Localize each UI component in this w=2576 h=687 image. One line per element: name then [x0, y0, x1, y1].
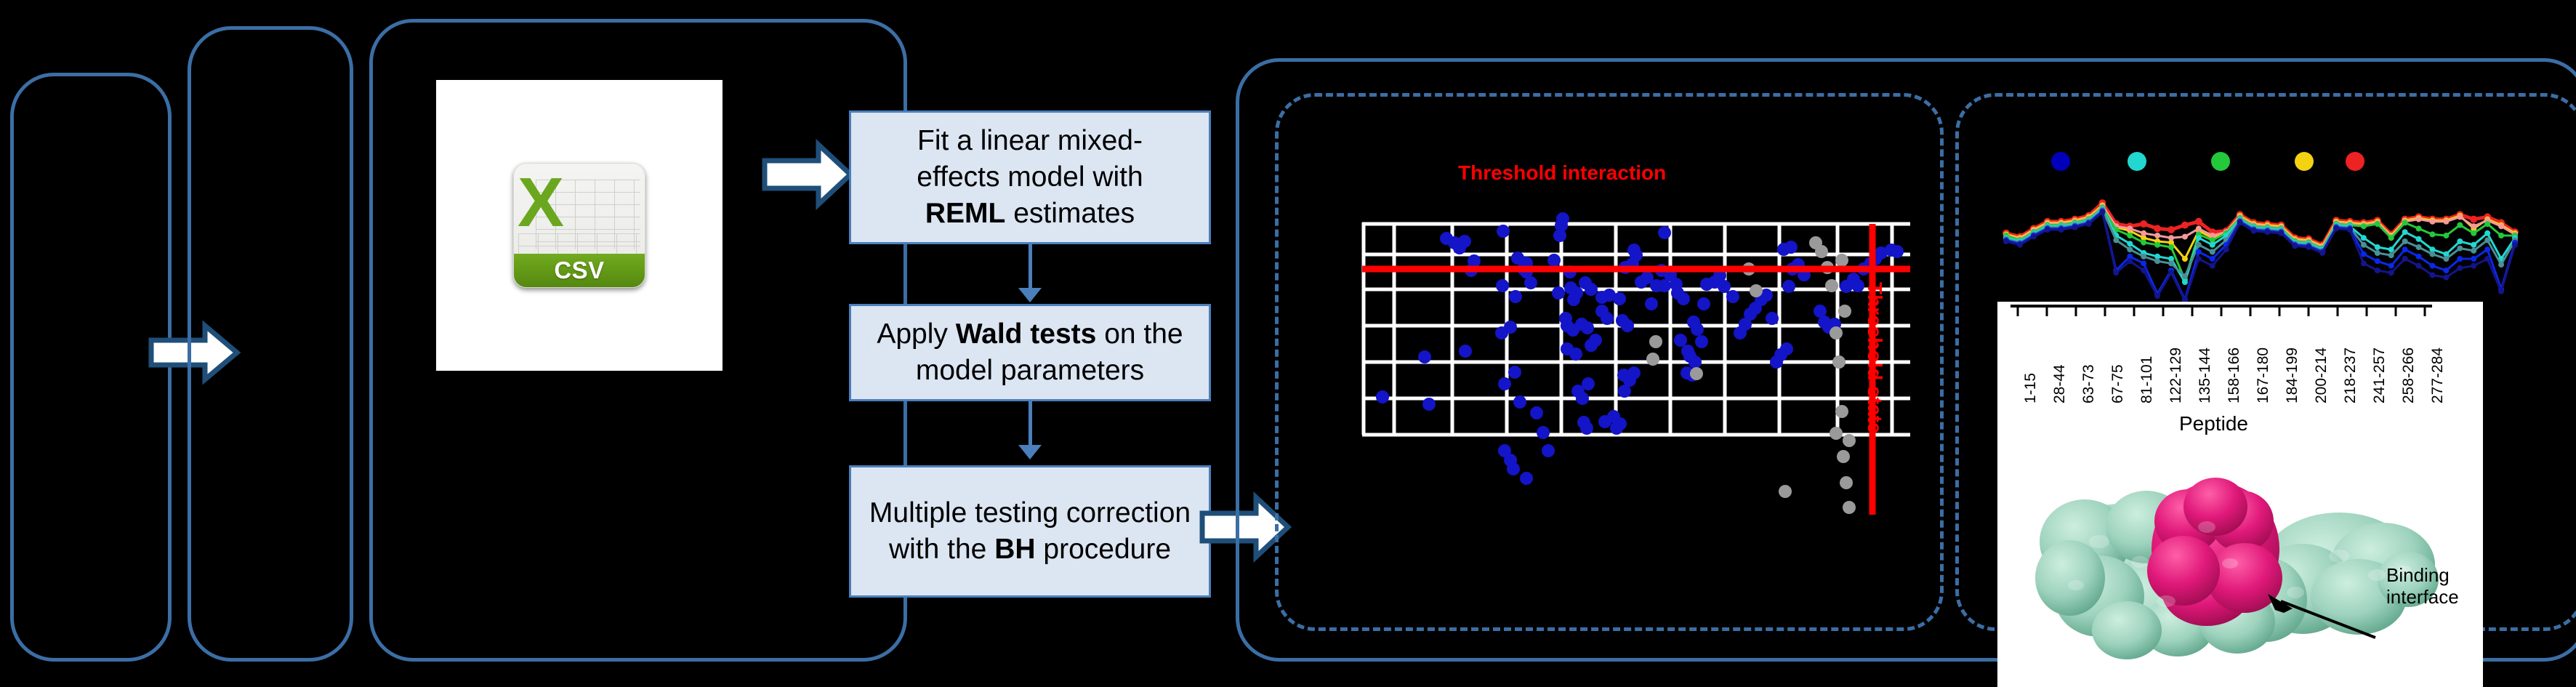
chart-point — [2429, 252, 2435, 257]
connector-wald-to-bh — [1029, 401, 1032, 446]
step-reml-post: estimates — [1005, 198, 1135, 229]
chart-point — [2457, 265, 2463, 271]
chart-point — [2182, 273, 2188, 279]
chart-point — [2457, 238, 2463, 244]
chart-point — [2182, 234, 2188, 240]
chart-point — [2375, 244, 2380, 250]
chart-point — [2168, 235, 2174, 241]
chart-point — [2045, 227, 2050, 233]
chart-point — [2416, 236, 2422, 242]
chart-point — [2498, 233, 2504, 238]
chart-point — [2154, 293, 2160, 299]
chart-point — [2471, 223, 2476, 229]
step-reml-mid: effects model with — [917, 161, 1143, 193]
chart-point — [2113, 270, 2119, 276]
connector-arrowhead-wald — [1018, 288, 1042, 302]
threshold-interaction-label: Threshold interaction — [1458, 161, 1666, 185]
chart-point — [2388, 263, 2394, 269]
chart-point — [2058, 227, 2064, 233]
peptide-tick-label: 200-214 — [2313, 347, 2330, 403]
chart-point — [2429, 219, 2435, 225]
chart-point — [2127, 246, 2133, 252]
chart-point — [2181, 222, 2189, 229]
binding-interface-line1: Binding — [2386, 565, 2459, 587]
peptide-tick-label: 135-144 — [2197, 347, 2214, 403]
peptide-axis-ticks — [1997, 302, 2483, 318]
chart-point — [2278, 230, 2284, 236]
chart-point — [2388, 270, 2394, 276]
chart-point — [2416, 254, 2422, 260]
chart-point — [2168, 260, 2174, 266]
chart-point — [2168, 270, 2174, 276]
chart-point — [2429, 263, 2435, 269]
chart-point — [2361, 260, 2367, 266]
chart-point — [2210, 256, 2215, 262]
chart-point — [2375, 250, 2380, 256]
chart-point — [2154, 258, 2160, 264]
chart-point — [2388, 252, 2394, 258]
chart-point — [2127, 225, 2133, 231]
chart-point — [2375, 258, 2380, 264]
chart-point — [2223, 246, 2229, 252]
structure-card: 1-1528-4463-7367-7581-101122-129135-1441… — [1997, 302, 2483, 687]
chart-point — [2402, 238, 2408, 244]
chart-point — [2003, 238, 2009, 244]
step-reml-bold: REML — [925, 198, 1006, 229]
chart-point — [2402, 246, 2408, 252]
threshold-state-label: Threshold state — [1863, 282, 1886, 433]
legend-dot-series-3 — [2211, 152, 2230, 171]
chart-point — [2086, 221, 2092, 227]
chart-point — [2196, 235, 2202, 241]
step-wald-text: Apply Wald tests on the model parameters — [858, 316, 1202, 389]
chart-point — [2154, 242, 2160, 248]
chart-point — [2210, 242, 2215, 248]
chart-point — [2141, 260, 2146, 266]
peptide-tick-label: 167-180 — [2255, 347, 2272, 403]
chart-point — [2141, 254, 2146, 260]
chart-point — [2182, 279, 2188, 285]
binding-interface-annotation: Binding interface — [2386, 565, 2459, 608]
peptide-tick-label: 241-257 — [2371, 347, 2388, 403]
peptide-tick-label: 1-15 — [2022, 373, 2040, 403]
chart-point — [2457, 256, 2463, 262]
legend-dot-series-4 — [2295, 152, 2314, 171]
step-wald-bold: Wald tests — [956, 318, 1097, 350]
chart-point — [2484, 221, 2490, 227]
chart-point — [2141, 240, 2146, 246]
chart-point — [2196, 225, 2202, 231]
chart-point — [2471, 263, 2476, 269]
chart-point — [2484, 246, 2490, 252]
chart-point — [2375, 268, 2380, 273]
chart-point — [2402, 220, 2408, 225]
chart-point — [2347, 227, 2353, 233]
chart-point — [2457, 214, 2463, 220]
legend-dot-series-1 — [2051, 152, 2070, 171]
chart-point — [2154, 225, 2161, 232]
chart-point — [2210, 249, 2215, 254]
peptide-tick-label: 81-101 — [2138, 356, 2156, 403]
stage-csv-panel — [188, 26, 353, 662]
chart-point — [2127, 233, 2133, 238]
chart-point — [2498, 223, 2504, 229]
chart-point — [2471, 248, 2476, 254]
peptide-tick-label: 277-284 — [2429, 347, 2447, 403]
chart-point — [2196, 249, 2202, 254]
chart-point — [2470, 216, 2477, 223]
peptide-tick-label: 158-166 — [2226, 347, 2243, 403]
step-bh-box[interactable]: Multiple testing correction with the BH … — [849, 465, 1211, 598]
peptide-tick-label: 184-199 — [2284, 347, 2301, 403]
legend-dot-series-5 — [2346, 152, 2364, 171]
peptide-tick-label: 122-129 — [2168, 347, 2185, 403]
chart-point — [2333, 225, 2339, 231]
chart-point — [2471, 256, 2476, 262]
legend-dot-series-2 — [2128, 152, 2146, 171]
step-bh-bold: BH — [994, 534, 1035, 565]
chart-point — [2484, 237, 2490, 243]
chart-point — [2251, 228, 2257, 234]
scatter-plot: Threshold interaction — [1336, 144, 1910, 529]
chart-point — [2471, 242, 2476, 248]
step-reml-pre: Fit a linear mixed- — [917, 125, 1143, 156]
chart-point — [2443, 256, 2449, 262]
chart-point — [2443, 233, 2449, 238]
chart-point — [2072, 225, 2078, 230]
peptide-tick-label: 258-266 — [2400, 347, 2418, 403]
chart-point — [2361, 235, 2367, 241]
chart-point — [2388, 246, 2394, 252]
chart-point — [2196, 256, 2202, 262]
step-reml-box[interactable]: Fit a linear mixed- effects model with R… — [849, 111, 1211, 244]
peptide-tick-label: 218-237 — [2342, 347, 2359, 403]
chart-point — [2319, 250, 2325, 256]
chart-point — [2113, 237, 2119, 243]
binding-interface-line2: interface — [2386, 587, 2459, 608]
step-reml-text: Fit a linear mixed- effects model with R… — [917, 123, 1143, 232]
chart-point — [2141, 230, 2146, 236]
connector-arrowhead-bh — [1018, 445, 1042, 459]
step-wald-pre: Apply — [877, 318, 955, 350]
peptide-line-chart — [1984, 145, 2544, 309]
chart-point — [2429, 272, 2435, 278]
peptide-tick-label: 28-44 — [2051, 364, 2069, 403]
chart-point — [2031, 234, 2037, 240]
chart-point — [2099, 209, 2105, 215]
protein-structure-image — [1997, 440, 2483, 687]
chart-point — [2416, 217, 2422, 222]
chart-point — [2168, 244, 2174, 250]
step-bh-text: Multiple testing correction with the BH … — [858, 495, 1202, 568]
chart-point — [2017, 242, 2023, 248]
chart-point — [2141, 268, 2146, 273]
chart-point — [2292, 243, 2298, 249]
chart-point — [2484, 256, 2490, 262]
chart-point — [2443, 275, 2449, 281]
peptide-axis-label: Peptide — [2179, 412, 2248, 435]
chart-point — [2182, 256, 2188, 262]
chart-point — [2154, 233, 2160, 238]
stage-statistics-panel — [369, 19, 907, 662]
chart-point — [2471, 230, 2476, 236]
chart-point — [2402, 256, 2408, 262]
scatter-canvas — [1336, 144, 1910, 529]
peptide-tick-label: 67-75 — [2109, 364, 2127, 403]
chart-point — [2498, 262, 2504, 268]
chart-point — [2416, 263, 2422, 269]
chart-point — [2210, 263, 2215, 269]
chart-point — [2306, 244, 2311, 250]
connector-reml-to-wald — [1029, 244, 1032, 289]
chart-point — [2195, 218, 2202, 225]
chart-point — [2361, 223, 2367, 229]
chart-point — [2264, 229, 2270, 235]
chart-point — [2416, 244, 2422, 250]
chart-point — [2361, 242, 2367, 248]
chart-point — [2127, 258, 2133, 264]
chart-point — [2127, 241, 2133, 246]
chart-point — [2168, 226, 2175, 233]
chart-point — [2512, 242, 2518, 248]
chart-point — [2402, 229, 2408, 235]
chart-point — [2416, 225, 2422, 231]
chart-point — [2443, 268, 2449, 273]
chart-point — [2196, 242, 2202, 248]
chart-point — [2457, 246, 2463, 252]
chart-point — [2484, 230, 2490, 236]
step-bh-post: procedure — [1036, 534, 1171, 565]
chart-point — [2498, 289, 2504, 294]
chart-point — [2237, 220, 2243, 225]
step-wald-box[interactable]: Apply Wald tests on the model parameters — [849, 304, 1211, 401]
chart-point — [2375, 221, 2380, 227]
chart-point — [2429, 231, 2435, 237]
chart-point — [2388, 235, 2394, 241]
chart-point — [2457, 222, 2463, 228]
chart-point — [2140, 220, 2147, 228]
chart-point — [2443, 219, 2449, 225]
peptide-tick-label: 63-73 — [2080, 364, 2098, 403]
